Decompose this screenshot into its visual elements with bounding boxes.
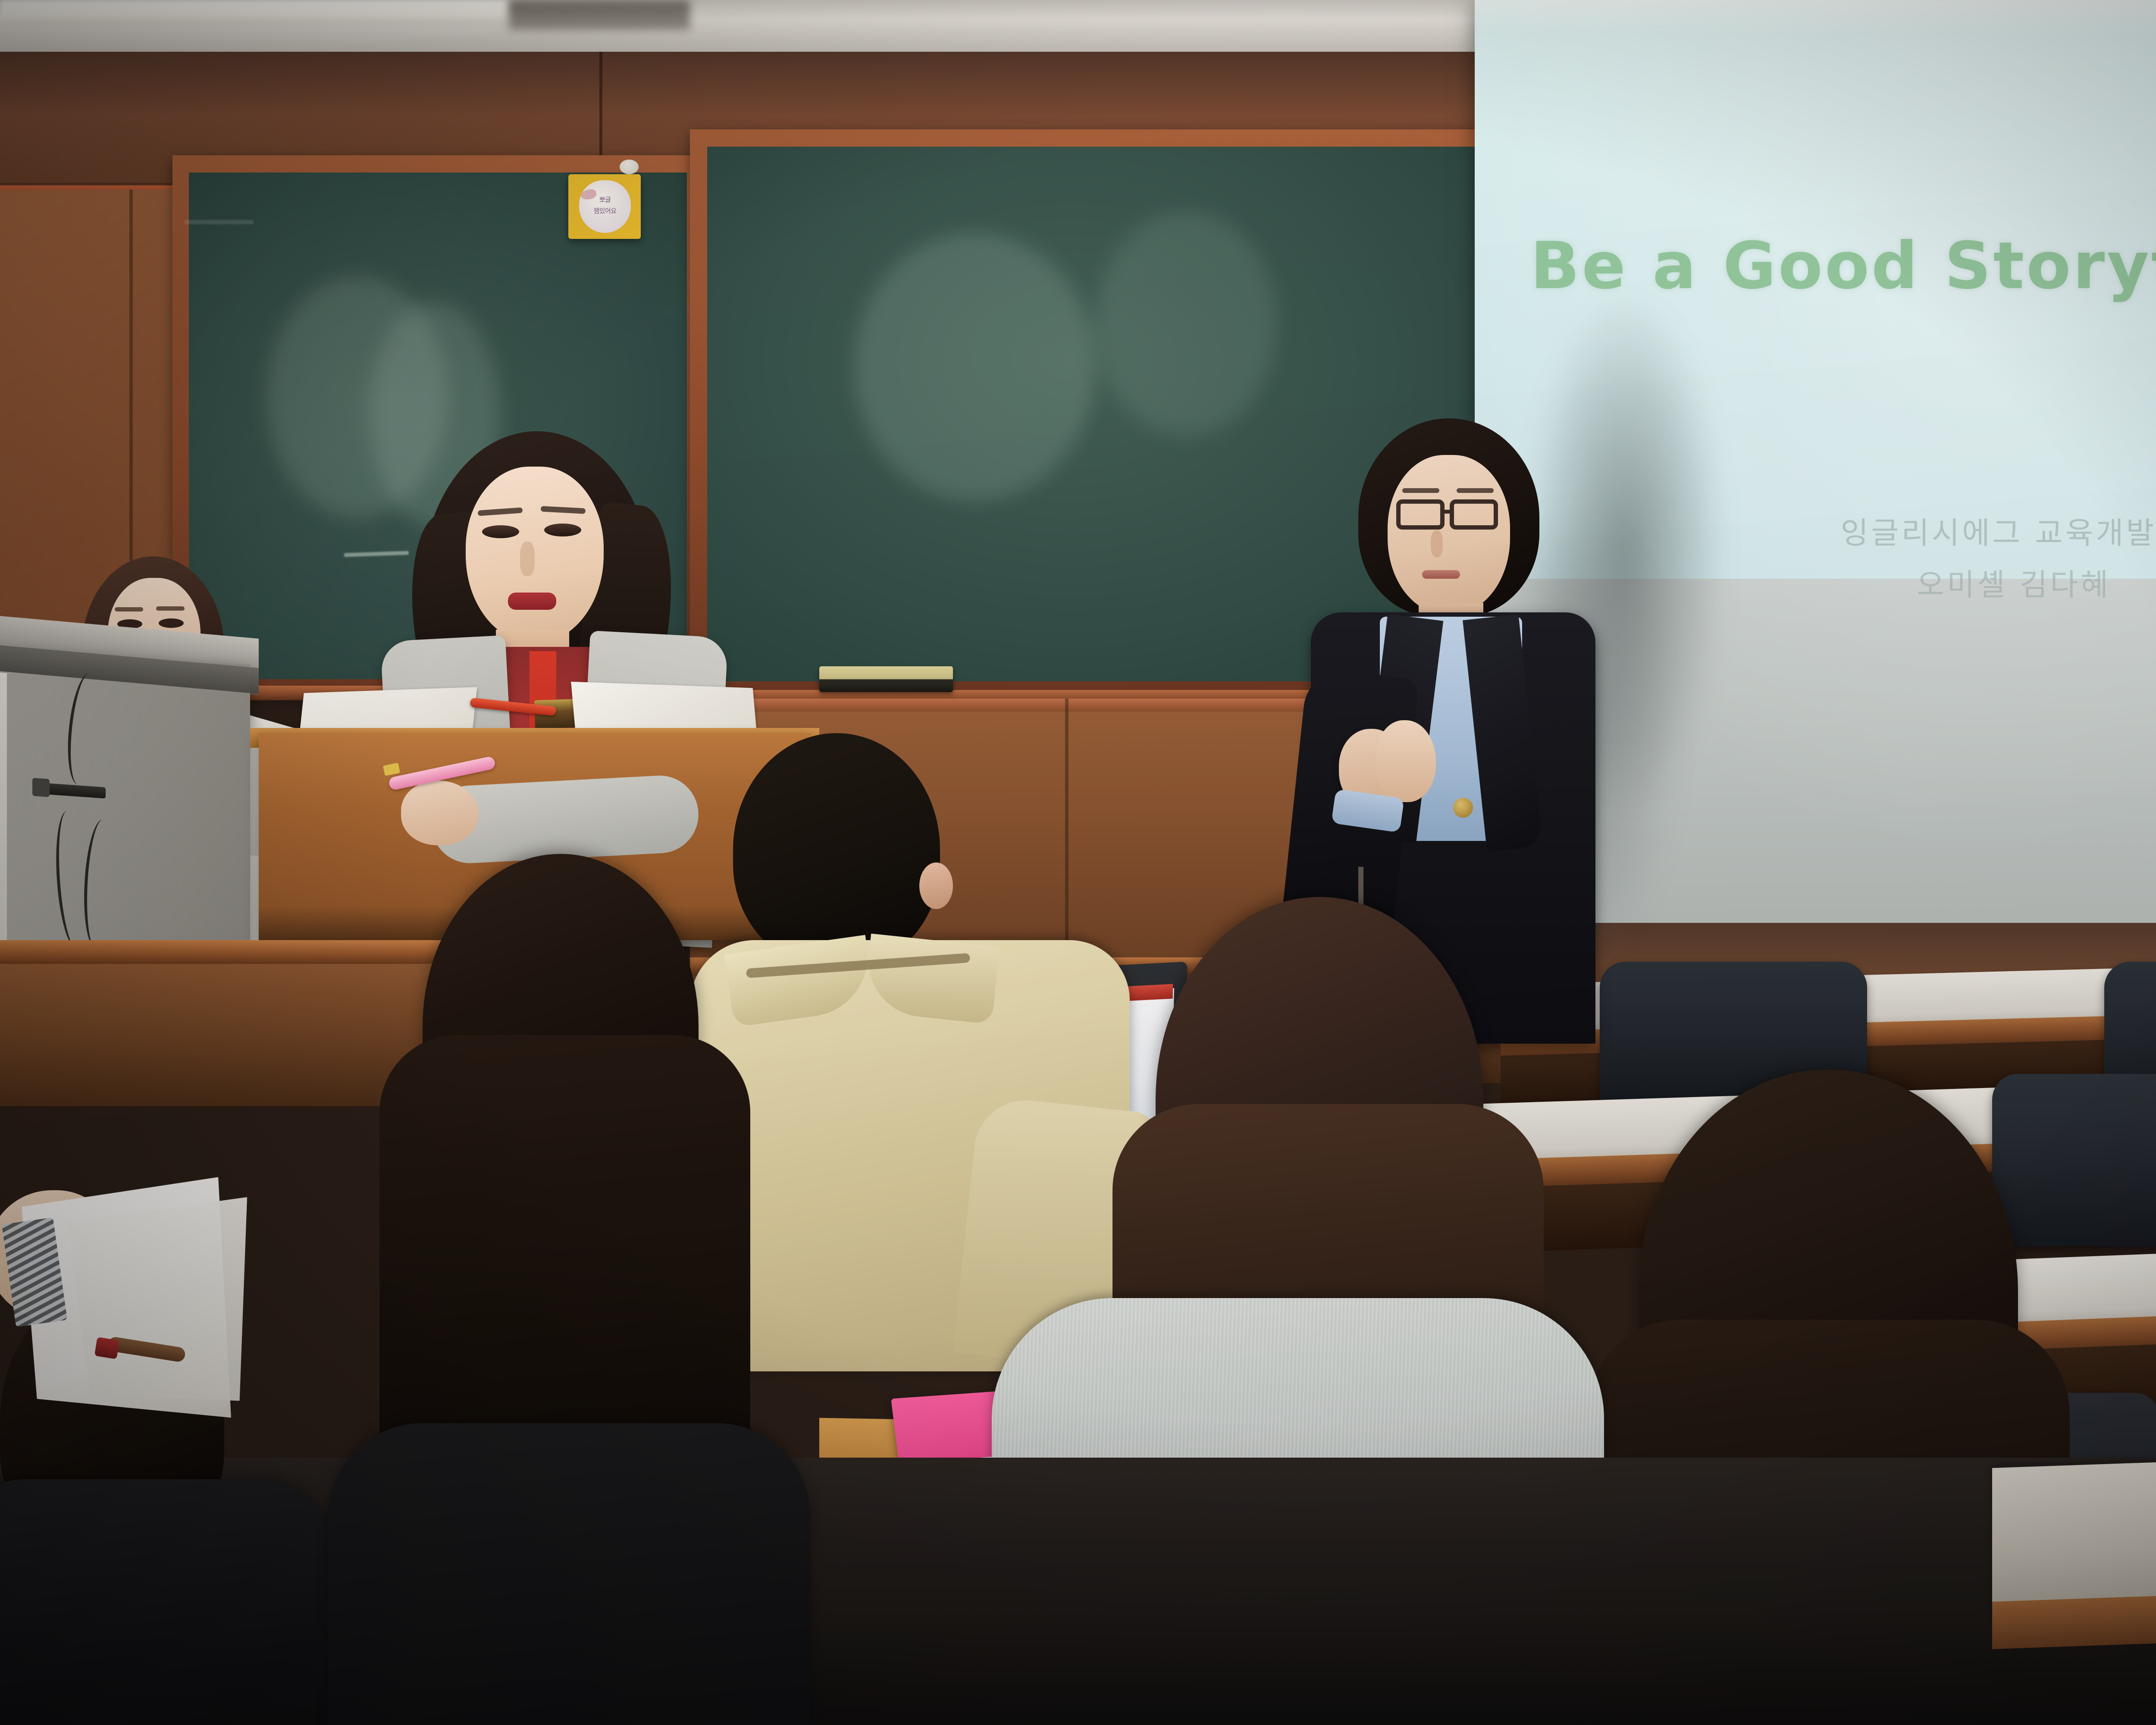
audience-body-left	[328, 1423, 811, 1725]
presenter-hand	[1376, 720, 1436, 802]
podium-stripe	[0, 672, 7, 958]
screen-glare	[1475, 0, 2156, 34]
poster-text-line1: 뽀글	[579, 195, 631, 204]
eyeglasses-lens-left	[1396, 499, 1445, 530]
eye	[159, 618, 184, 628]
eyebrow	[1457, 488, 1494, 493]
eyeglasses-lens-right	[1450, 499, 1498, 530]
panelist-hand	[401, 781, 479, 845]
chalk-smudge	[854, 233, 1095, 500]
eyebrow	[1402, 488, 1439, 493]
chalk-line	[344, 551, 409, 557]
panelist-face	[466, 467, 604, 643]
middle-wall-seam	[1065, 699, 1069, 966]
presenter-face	[1388, 455, 1510, 615]
lips	[508, 593, 556, 610]
lapel-pin	[1453, 798, 1473, 818]
nose	[520, 542, 535, 576]
mouth	[1422, 570, 1460, 579]
eyebrow	[115, 607, 143, 612]
eyeglasses-bridge	[1444, 510, 1453, 514]
chalk-eraser[interactable]	[819, 666, 953, 692]
poster-text-line2: 잼있어요	[579, 206, 631, 215]
pen-cap	[94, 1337, 119, 1359]
podium-mic-base[interactable]	[32, 778, 50, 797]
podium[interactable]	[0, 646, 250, 966]
slide-title: Be a Good Storyteller	[1475, 229, 2156, 304]
wall-sticker	[620, 160, 639, 174]
eye	[544, 524, 581, 536]
ear	[919, 862, 953, 909]
ceiling-shadow	[509, 0, 690, 30]
nose	[1431, 530, 1443, 557]
spiral-notebook-page-second	[66, 1197, 261, 1412]
audience-body-far-left	[0, 1479, 336, 1725]
fluorescent-light	[0, 0, 509, 25]
chalk-line	[185, 220, 254, 224]
chalk-smudge	[1095, 211, 1276, 436]
eyebrow	[156, 606, 185, 611]
lecture-chair[interactable]	[1992, 1074, 2156, 1246]
audience-head-man	[733, 733, 940, 966]
eye	[482, 525, 519, 538]
lecture-hall-photo: 뽀글 잼있어요 Be a Good Storyteller 잉글리시에그 교육개…	[0, 0, 2156, 1725]
